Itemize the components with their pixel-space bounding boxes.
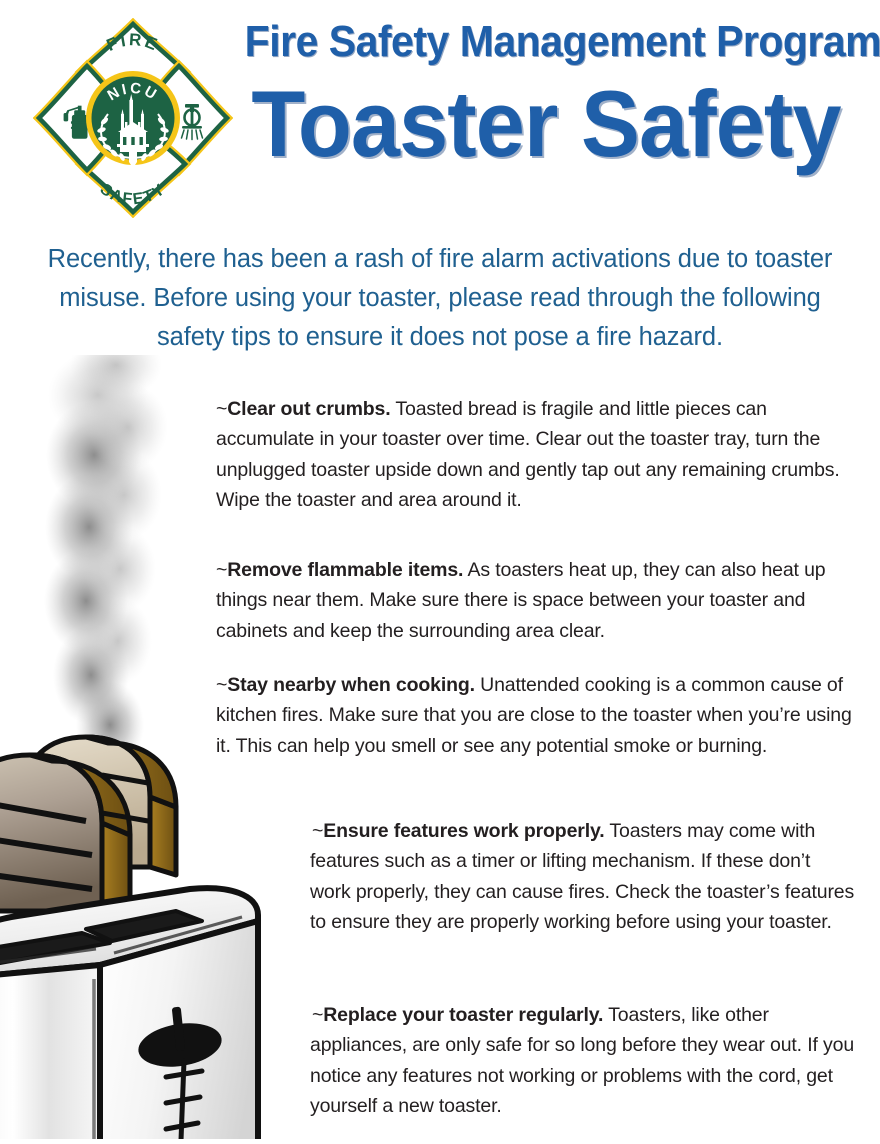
- list-item: ~Clear out crumbs. Toasted bread is frag…: [216, 394, 856, 516]
- tip-marker: ~: [216, 674, 227, 696]
- list-item: ~Ensure features work properly. Toasters…: [310, 816, 856, 938]
- tip-heading: Ensure features work properly.: [323, 820, 604, 842]
- list-item: ~Replace your toaster regularly. Toaster…: [310, 1000, 856, 1122]
- tip-marker: ~: [216, 559, 227, 581]
- tip-marker: ~: [216, 398, 227, 420]
- tip-heading: Remove flammable items.: [227, 559, 463, 581]
- tip-heading: Clear out crumbs.: [227, 398, 390, 420]
- safety-tips-list: ~Clear out crumbs. Toasted bread is frag…: [0, 0, 880, 1139]
- tip-marker: ~: [312, 1004, 323, 1026]
- tip-heading: Replace your toaster regularly.: [323, 1004, 603, 1026]
- tip-heading: Stay nearby when cooking.: [227, 674, 475, 696]
- tip-marker: ~: [312, 820, 323, 842]
- list-item: ~Remove flammable items. As toasters hea…: [216, 555, 856, 647]
- list-item: ~Stay nearby when cooking. Unattended co…: [216, 670, 856, 762]
